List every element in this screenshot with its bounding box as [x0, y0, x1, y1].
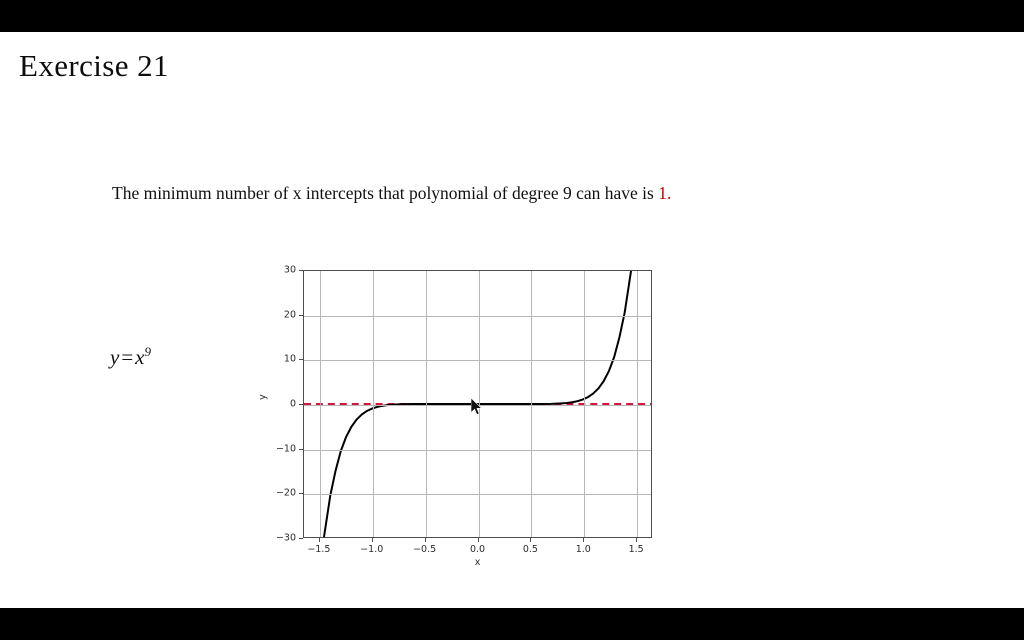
x-axis-tick-label: −1.0: [360, 544, 383, 555]
equation-lhs: y: [110, 345, 119, 369]
equation-operator: =: [119, 345, 135, 369]
gridline-horizontal: [304, 450, 651, 451]
statement-answer: 1.: [658, 183, 671, 203]
gridline-vertical: [373, 271, 374, 537]
gridline-horizontal: [304, 316, 651, 317]
slide-canvas: Exercise 21 The minimum number of x inte…: [0, 32, 1024, 608]
statement-prefix: The minimum number of x intercepts that …: [112, 183, 658, 203]
curve-x-to-the-ninth: [304, 271, 651, 537]
gridline-vertical: [426, 271, 427, 537]
gridline-horizontal: [304, 405, 651, 406]
y-axis-tick-label: −10: [267, 443, 296, 454]
x-axis-tick-label: 1.0: [576, 544, 591, 555]
gridline-vertical: [531, 271, 532, 537]
gridline-horizontal: [304, 494, 651, 495]
x-axis-tick: [372, 538, 373, 542]
y-axis-tick: [299, 493, 303, 494]
gridline-horizontal: [304, 360, 651, 361]
x-axis-tick-label: −0.5: [413, 544, 436, 555]
y-axis-tick: [299, 538, 303, 539]
gridline-vertical: [637, 271, 638, 537]
gridline-vertical: [584, 271, 585, 537]
x-axis-tick-label: 0.5: [523, 544, 538, 555]
y-axis-tick: [299, 270, 303, 271]
plot-axes-area: [303, 270, 652, 538]
x-axis-tick-label: −1.5: [307, 544, 330, 555]
y-axis-tick: [299, 359, 303, 360]
y-axis-tick-label: 0: [267, 399, 296, 410]
gridline-vertical: [479, 271, 480, 537]
x-axis-tick-label: 1.5: [629, 544, 644, 555]
statement-text: The minimum number of x intercepts that …: [112, 183, 671, 204]
letterbox-top: [0, 0, 1024, 32]
x-axis-tick: [425, 538, 426, 542]
letterbox-bottom: [0, 608, 1024, 640]
y-axis-tick-label: −20: [267, 488, 296, 499]
y-axis-tick: [299, 315, 303, 316]
equation-y-equals-x-nine: y=x9: [110, 344, 151, 370]
presentation-stage: Exercise 21 The minimum number of x inte…: [0, 0, 1024, 640]
y-axis-tick: [299, 449, 303, 450]
equation-base: x: [135, 345, 144, 369]
x-axis-tick: [478, 538, 479, 542]
gridline-vertical: [320, 271, 321, 537]
page-title: Exercise 21: [19, 48, 169, 84]
y-axis-tick-label: 20: [267, 309, 296, 320]
x-axis-tick: [319, 538, 320, 542]
x-axis-tick-label: 0.0: [470, 544, 485, 555]
function-plot-figure: x y −1.5−1.0−0.50.00.51.01.5−30−20−10010…: [255, 260, 665, 570]
x-axis-tick: [530, 538, 531, 542]
y-axis-tick-label: 10: [267, 354, 296, 365]
x-axis-label: x: [303, 557, 652, 568]
y-axis-tick-label: −30: [267, 533, 296, 544]
y-axis-tick: [299, 404, 303, 405]
y-axis-tick-label: 30: [267, 265, 296, 276]
equation-exponent: 9: [145, 344, 152, 359]
x-axis-tick: [583, 538, 584, 542]
x-axis-tick: [636, 538, 637, 542]
